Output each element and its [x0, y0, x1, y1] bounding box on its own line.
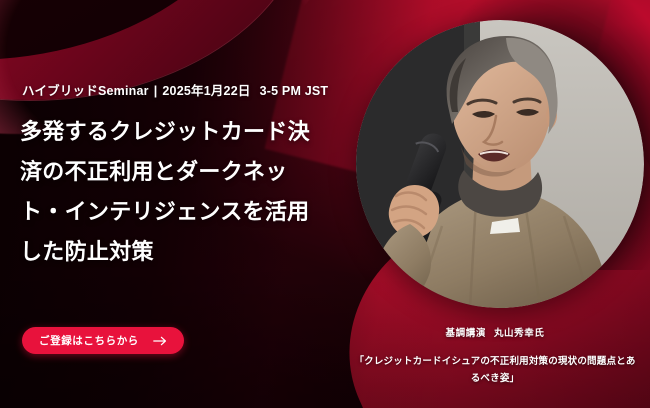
headline-line-4: した防止対策	[20, 232, 340, 272]
meta-separator: |	[149, 84, 163, 98]
talk-title: 「クレジットカードイシュアの不正利用対策の現状の問題点とあ るべき姿」	[350, 353, 640, 387]
speaker-caption: 基調講演丸山秀幸氏 「クレジットカードイシュアの不正利用対策の現状の問題点とあ …	[350, 325, 640, 387]
event-meta-line: ハイブリッドSeminar|2025年1月22日3-5 PM JST	[22, 80, 328, 99]
register-button-label: ご登録はこちらから	[39, 333, 139, 348]
talk-title-line-2: るべき姿」	[350, 370, 640, 387]
speaker-name-line: 基調講演丸山秀幸氏	[350, 325, 640, 339]
headline-line-3: ト・インテリジェンスを活用	[20, 192, 340, 232]
event-type-label: ハイブリッドSeminar	[22, 84, 149, 98]
seminar-banner: ハイブリッドSeminar|2025年1月22日3-5 PM JST 多発するク…	[0, 0, 650, 408]
speaker-photo	[356, 20, 644, 308]
speaker-role-label: 基調講演	[446, 328, 486, 339]
register-button[interactable]: ご登録はこちらから	[22, 327, 184, 354]
arrow-right-icon	[153, 336, 167, 346]
headline-line-2: 済の不正利用とダークネッ	[20, 152, 340, 192]
headline-line-1: 多発するクレジットカード決	[20, 112, 340, 152]
event-time-label: 3-5 PM JST	[260, 84, 329, 98]
talk-title-line-1: 「クレジットカードイシュアの不正利用対策の現状の問題点とあ	[350, 353, 640, 370]
speaker-name-label: 丸山秀幸氏	[494, 328, 545, 339]
event-date-label: 2025年1月22日	[162, 84, 250, 98]
page-title: 多発するクレジットカード決 済の不正利用とダークネッ ト・インテリジェンスを活用…	[20, 112, 340, 272]
